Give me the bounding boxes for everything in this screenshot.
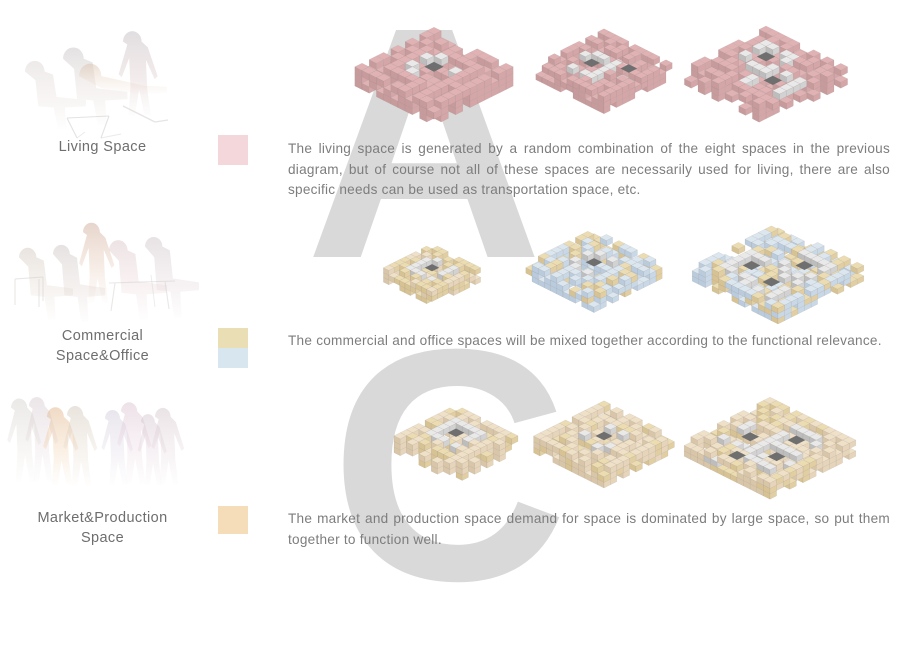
paragraph-market: The market and production space demand f… [288,509,890,550]
swatch-living [218,135,248,165]
swatch-color-bottom [218,520,248,534]
swatch-color-top [218,328,248,348]
legend-label-market: Market&Production Space [0,508,205,548]
swatch-commercial [218,328,248,368]
voxel-cluster [344,14,524,140]
swatch-color-top [218,135,248,150]
paragraph-commercial: The commercial and office spaces will be… [288,331,890,352]
swatch-market [218,506,248,534]
paragraph-living: The living space is generated by a rando… [288,139,890,201]
voxel-cluster [530,18,680,140]
people-standing-crowd-icon [5,390,200,502]
diagram-strip-living [330,12,902,137]
swatch-color-bottom [218,150,248,165]
diagram-strip-market [330,380,902,505]
people-lounging-icon [5,22,200,144]
legend-line-2: Space [0,528,205,548]
poster-canvas: A C Living Space The living space is gen… [0,0,902,575]
voxel-cluster [374,225,494,329]
voxel-cluster [678,211,878,329]
swatch-color-bottom [218,348,248,368]
voxel-cluster [382,390,532,508]
legend-label-living: Living Space [0,137,205,157]
voxel-cluster [506,215,686,327]
voxel-cluster [520,388,690,508]
swatch-color-top [218,506,248,520]
people-seated-cafe-icon [5,217,200,329]
legend-line-1: Commercial [0,326,205,346]
legend-label-commercial: Commercial Space&Office [0,326,205,366]
voxel-cluster [670,386,870,508]
legend-line-1: Market&Production [0,508,205,528]
legend-line-2: Space&Office [0,346,205,366]
voxel-cluster [670,16,860,140]
diagram-strip-commercial [330,209,902,327]
